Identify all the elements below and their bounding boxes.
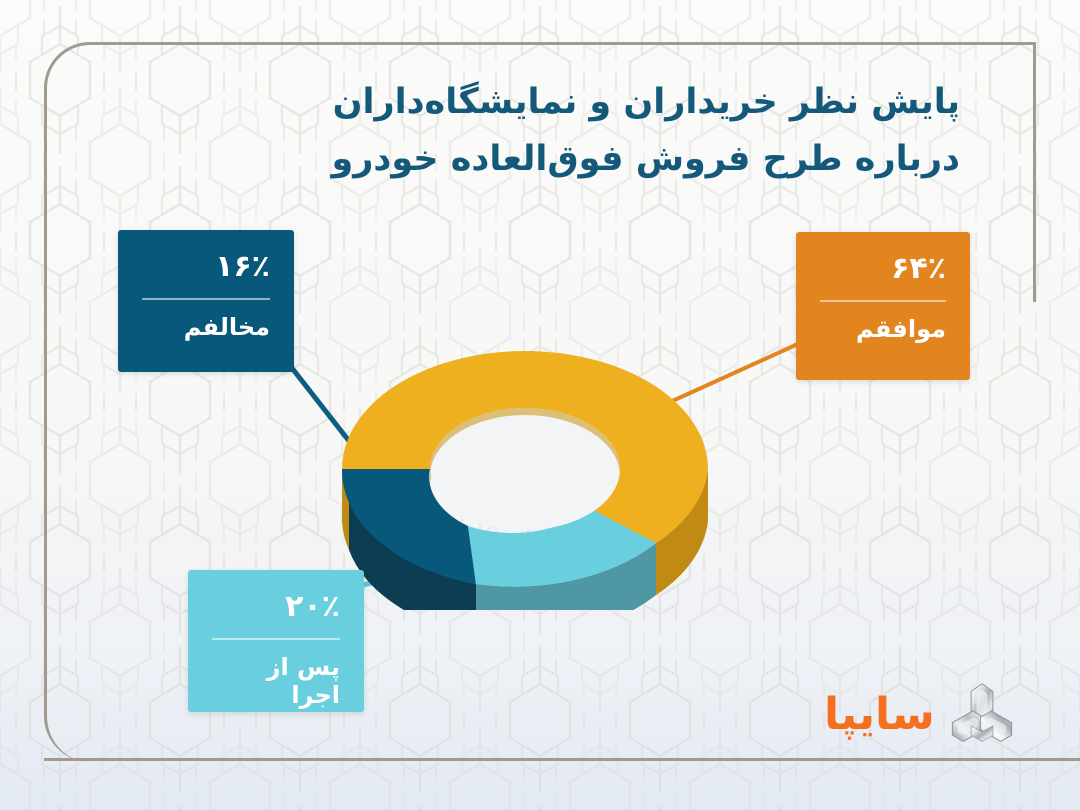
callout-disagree-divider (142, 298, 270, 300)
brand-name: سایپا (824, 693, 935, 743)
callout-after[interactable]: ۲۰٪ پس از اجرا (188, 570, 364, 712)
callout-after-label: پس از اجرا (212, 654, 340, 709)
donut-chart (325, 330, 725, 610)
callout-agree-label: موافقم (820, 316, 946, 344)
infographic-canvas: پایش نظر خریداران و نمایشگاه‌داران دربار… (0, 0, 1080, 810)
page-title-line-2: درباره طرح فروش فوق‌العاده خودرو (240, 131, 960, 188)
donut-chart-svg (325, 330, 725, 610)
callout-after-percent: ۲۰٪ (212, 592, 340, 638)
callout-disagree-percent: ۱۶٪ (142, 252, 270, 298)
callout-disagree[interactable]: ۱۶٪ مخالفم (118, 230, 294, 372)
page-title-line-1: پایش نظر خریداران و نمایشگاه‌داران (240, 74, 960, 131)
brand-logo: سایپا (824, 676, 1024, 760)
decorative-frame-right (1033, 42, 1036, 302)
callout-agree-divider (820, 300, 946, 302)
page-title: پایش نظر خریداران و نمایشگاه‌داران دربار… (240, 74, 960, 187)
callout-after-divider (212, 638, 340, 640)
callout-agree-percent: ۶۴٪ (820, 254, 946, 300)
callout-agree[interactable]: ۶۴٪ موافقم (796, 232, 970, 380)
saipa-pinwheel-icon (943, 679, 1021, 757)
callout-disagree-label: مخالفم (142, 314, 270, 342)
